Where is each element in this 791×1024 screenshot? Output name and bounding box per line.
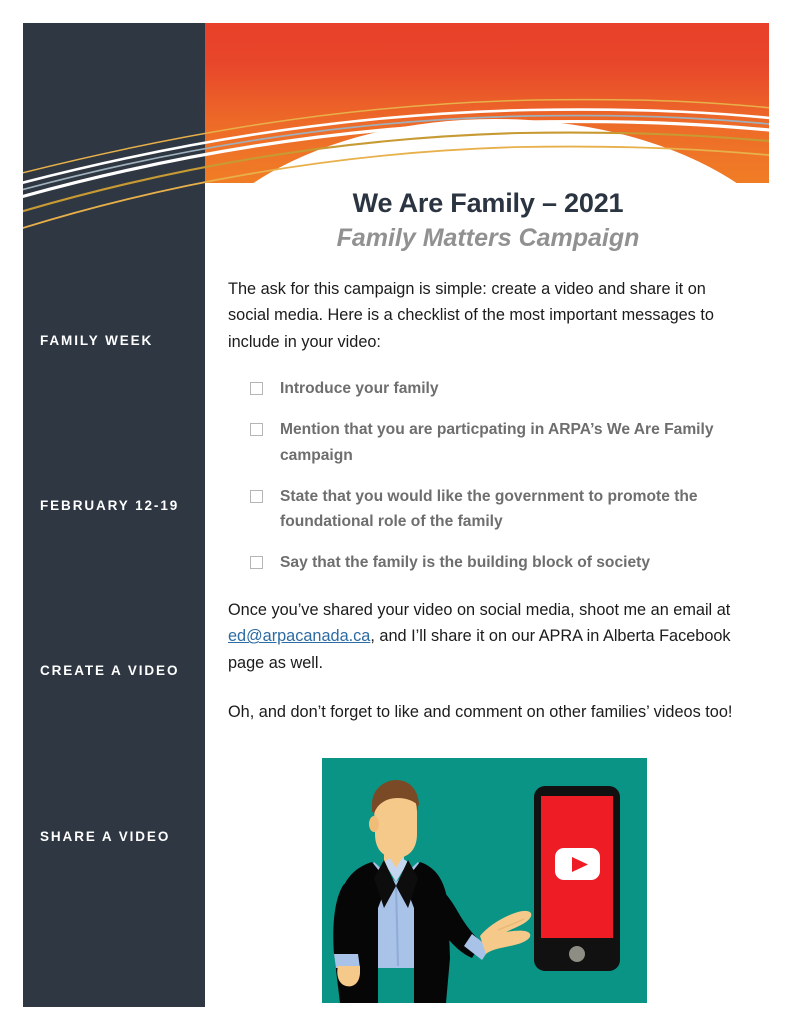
checklist-item[interactable]: Mention that you are particpating in ARP…	[250, 417, 748, 468]
checklist: Introduce your family Mention that you a…	[228, 376, 748, 576]
checklist-item-label: Mention that you are particpating in ARP…	[280, 417, 748, 468]
checklist-item-label: Say that the family is the building bloc…	[280, 550, 748, 575]
checklist-item[interactable]: Say that the family is the building bloc…	[250, 550, 748, 575]
checklist-item-label: State that you would like the government…	[280, 484, 748, 535]
sidebar: FAMILY WEEK FEBRUARY 12-19 CREATE A VIDE…	[23, 23, 205, 1007]
checkbox-icon[interactable]	[250, 382, 263, 395]
checklist-item[interactable]: Introduce your family	[250, 376, 748, 401]
illustration-svg	[322, 758, 647, 1003]
email-paragraph: Once you’ve shared your video on social …	[228, 597, 748, 676]
checkbox-icon[interactable]	[250, 423, 263, 436]
main-content: We Are Family – 2021 Family Matters Camp…	[228, 186, 748, 725]
sidebar-item-create-a-video: CREATE A VIDEO	[40, 663, 179, 678]
smartphone-icon	[534, 786, 620, 971]
sidebar-item-february-dates: FEBRUARY 12-19	[40, 498, 179, 513]
header-banner	[205, 23, 769, 183]
checkbox-icon[interactable]	[250, 490, 263, 503]
sidebar-item-share-a-video: SHARE A VIDEO	[40, 829, 170, 844]
youtube-play-icon	[555, 848, 600, 880]
intro-paragraph: The ask for this campaign is simple: cre…	[228, 276, 748, 355]
phone-home-button	[569, 946, 585, 962]
checklist-item-label: Introduce your family	[280, 376, 748, 401]
document-page: FAMILY WEEK FEBRUARY 12-19 CREATE A VIDE…	[0, 0, 791, 1024]
email-link[interactable]: ed@arpacanada.ca	[228, 627, 370, 645]
checkbox-icon[interactable]	[250, 556, 263, 569]
checklist-item[interactable]: State that you would like the government…	[250, 484, 748, 535]
closing-paragraph: Oh, and don’t forget to like and comment…	[228, 699, 748, 725]
illustration-man-presenting-smartphone	[322, 758, 647, 1003]
page-title: We Are Family – 2021	[228, 186, 748, 221]
page-subtitle: Family Matters Campaign	[228, 223, 748, 255]
sidebar-item-family-week: FAMILY WEEK	[40, 333, 153, 348]
email-para-before: Once you’ve shared your video on social …	[228, 601, 730, 619]
